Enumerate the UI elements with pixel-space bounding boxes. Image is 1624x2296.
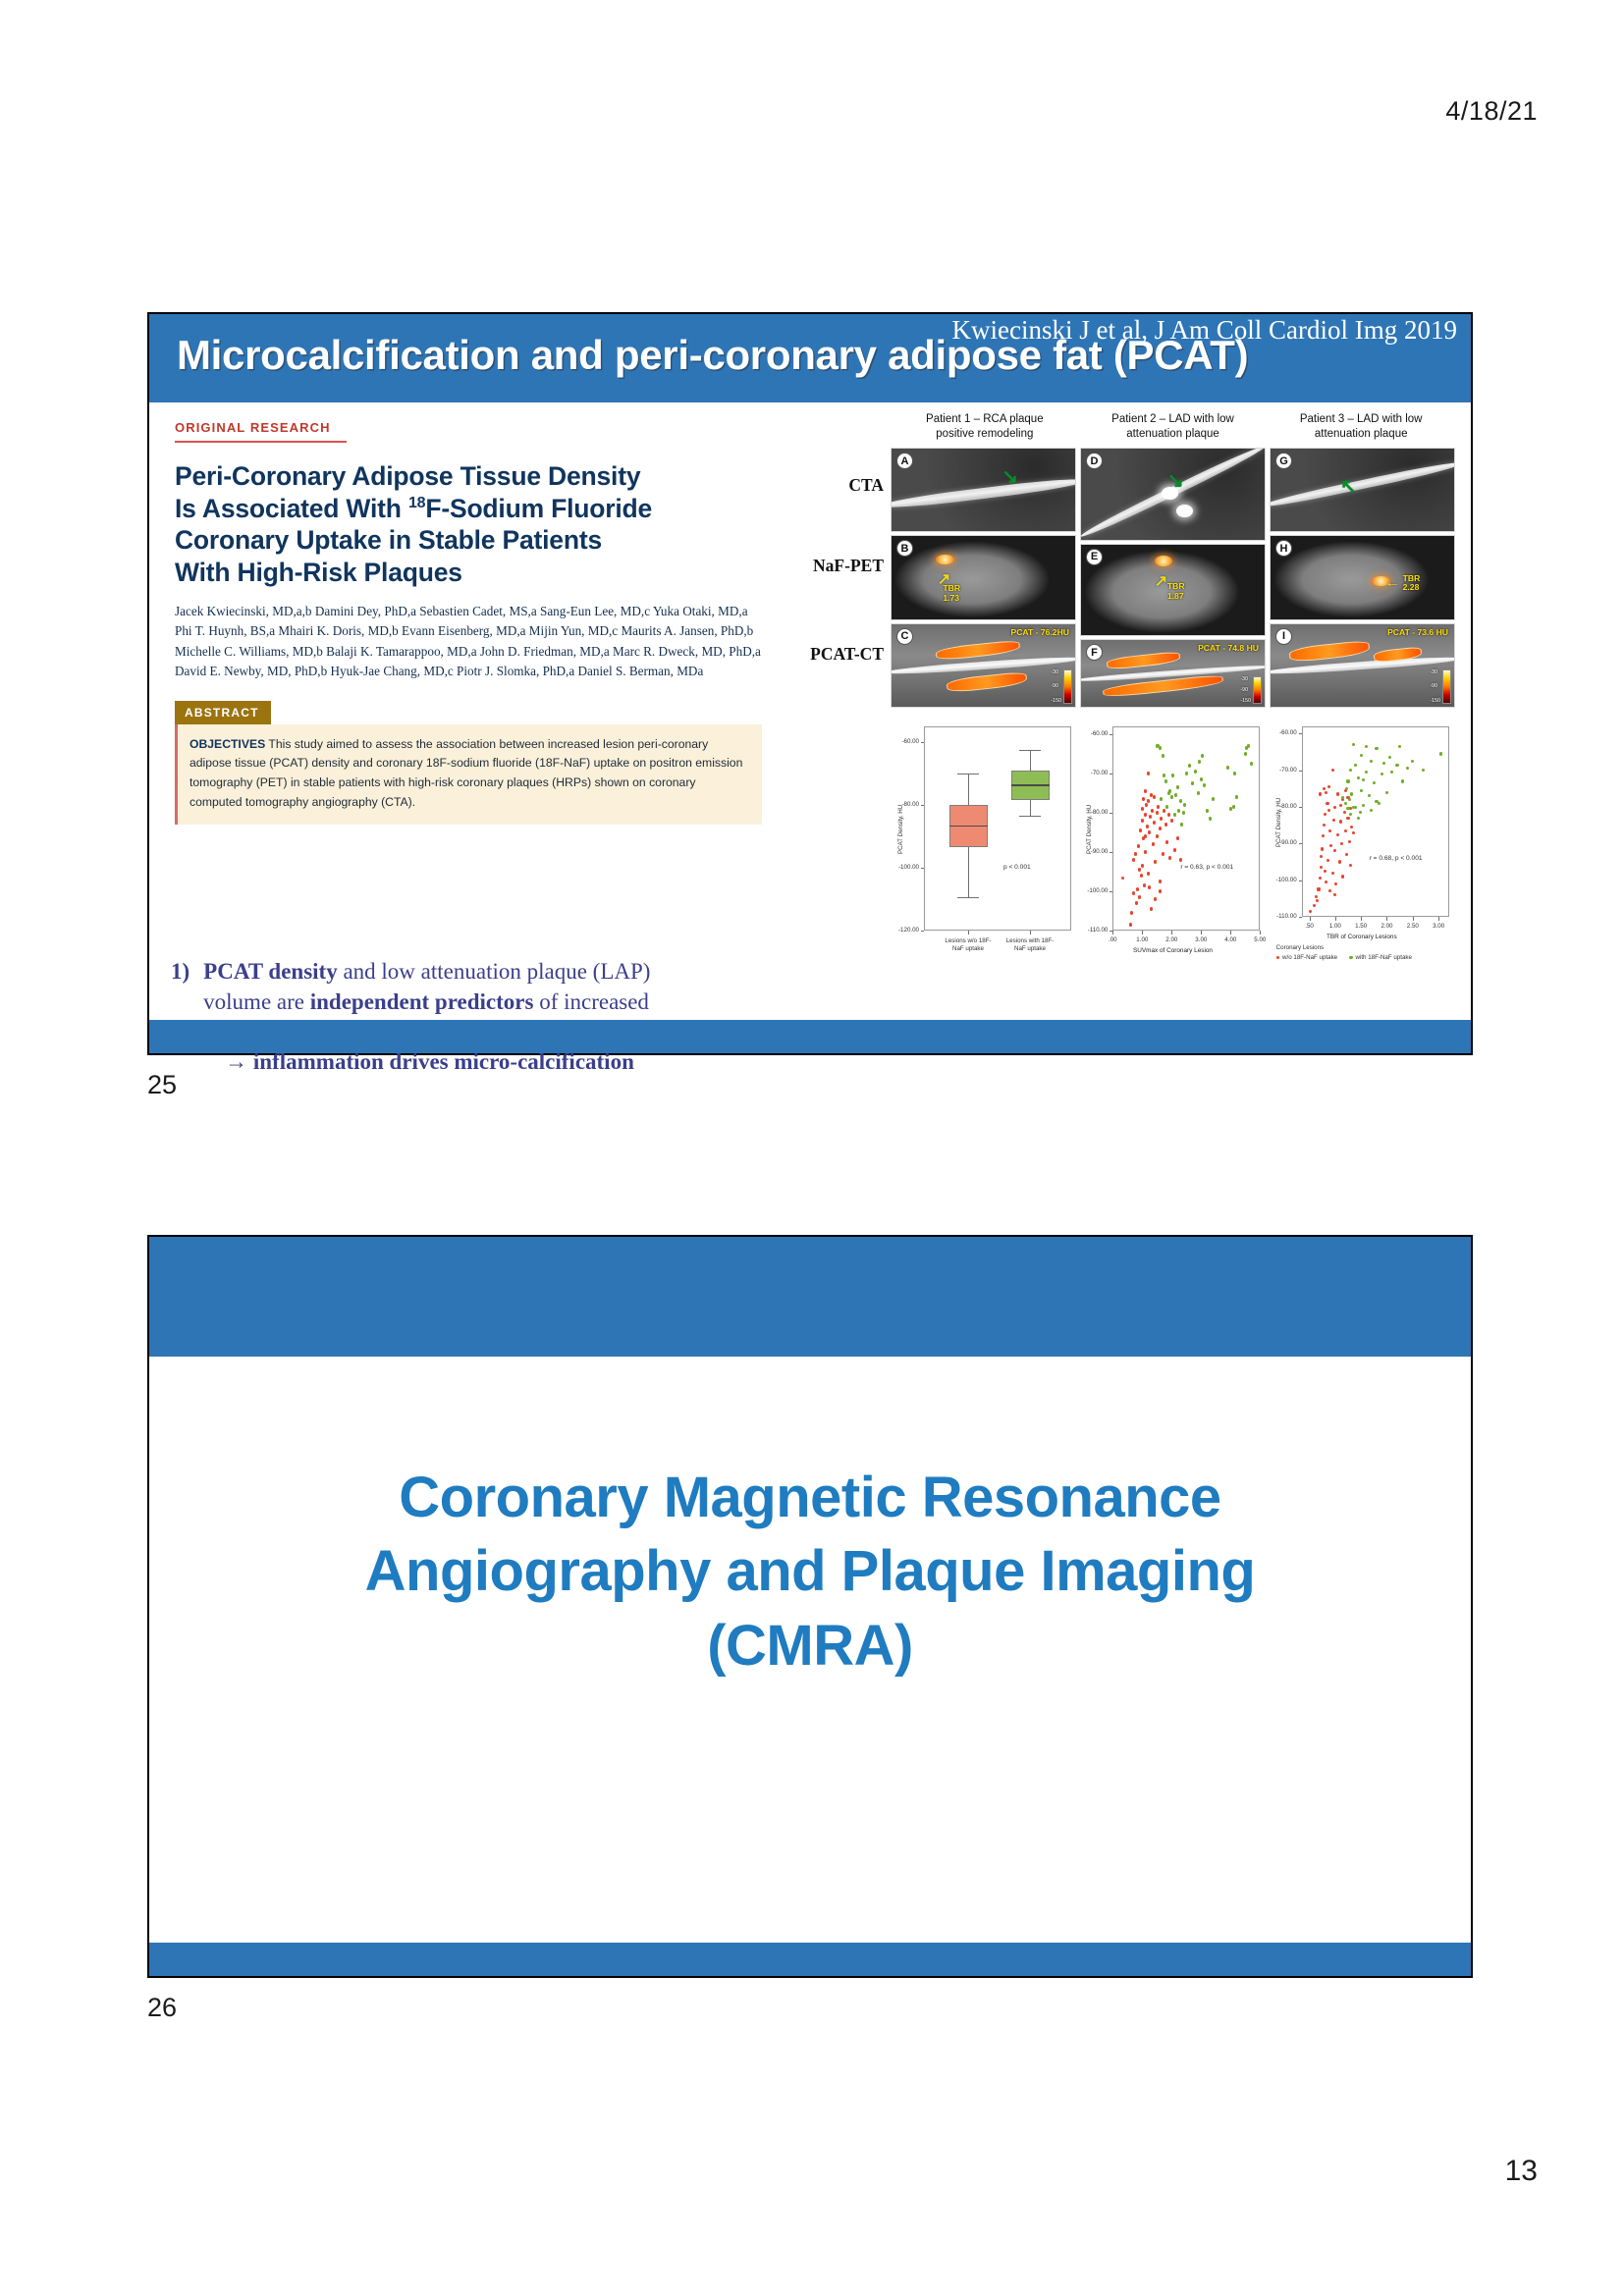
yellow-arrow-icon: ↗ (1155, 571, 1167, 591)
scatter-point (1388, 756, 1391, 759)
chart-annotation: r = 0.63, p < 0.001 (1180, 864, 1233, 871)
panel-letter-A: A (896, 453, 913, 469)
figure-column-header-patient-3: Patient 3 – LAD with lowattenuation plaq… (1267, 412, 1455, 448)
scatter-point (1167, 813, 1170, 816)
scatter-point (1135, 901, 1138, 904)
panel-C-pcat-ct: C PCAT - 76.2HU -30 -90 -150 (891, 623, 1076, 708)
y-tick-mark (1110, 852, 1112, 853)
x-axis-tick: 2.00 (1156, 936, 1187, 943)
slide-2-title-line-3: (CMRA) (257, 1609, 1363, 1682)
x-tick-mark (1171, 931, 1172, 934)
boxplot-median (949, 826, 988, 827)
scatter-point (1232, 805, 1235, 808)
x-tick-mark (968, 931, 969, 934)
figure-column-2: D ↘ E ↗ TBR 1.87 F PCAT - 74.8 HU (1080, 448, 1266, 708)
article-title-line-2: Is Associated With 18F-Sodium Fluoride (175, 493, 780, 525)
panel-H-naf-pet: H ← TBR 2.28 (1270, 535, 1455, 619)
scatter-point (1194, 770, 1197, 773)
authors-line-3: Michelle C. Williams, MD,b Balaji K. Tam… (175, 642, 764, 662)
scatter-point (1129, 923, 1132, 926)
y-axis-tick: -110.00 (1269, 913, 1297, 920)
abstract-box: OBJECTIVES This study aimed to assess th… (175, 724, 762, 825)
x-tick-mark (1230, 931, 1231, 934)
scatter-point (1141, 807, 1144, 810)
figure-image-grid: A ↘ B ↗ TBR 1.73 C PCAT - 76.2HU (891, 448, 1455, 708)
scatter-point (1375, 747, 1378, 750)
article-title-line-3: Coronary Uptake in Stable Patients (175, 524, 780, 557)
scatter-point (1141, 819, 1144, 822)
scatter-point (1324, 870, 1326, 873)
scatter-point (1188, 764, 1191, 767)
scatter-point (1332, 819, 1335, 822)
scatter-point (1153, 795, 1156, 798)
slide-2[interactable]: Coronary Magnetic Resonance Angiography … (147, 1235, 1473, 1978)
scatter-point (1179, 858, 1182, 861)
scatter-point (1344, 802, 1347, 805)
plot-area (1112, 726, 1260, 931)
scatter-point (1147, 872, 1150, 875)
scatter-tbr-vs-pcat: -60.00-70.00-80.00-90.00-100.00-110.00PC… (1269, 719, 1455, 964)
scatter-point (1179, 799, 1182, 802)
slide-2-number: 26 (147, 1993, 177, 2023)
scatter-point (1176, 836, 1179, 839)
authors-line-2: Phi T. Huynh, BS,a Mhairi K. Doris, MD,b… (175, 621, 764, 641)
color-scale-ticks: -30 -90 -150 (1240, 676, 1251, 704)
scatter-point (1365, 745, 1368, 748)
scatter-point (1316, 899, 1319, 902)
scatter-point (1162, 852, 1164, 855)
article-rule (175, 441, 347, 443)
scatter-point (1378, 802, 1380, 805)
authors-line-4: David E. Newby, MD, PhD,b Hyuk-Jae Chang… (175, 662, 764, 681)
scatter-point (1170, 819, 1173, 822)
takeaway-bullet: 1) PCAT density and low attenuation plaq… (171, 957, 780, 1077)
artery-shape (891, 655, 1076, 676)
scatter-point (1235, 795, 1238, 798)
scatter-point (1212, 797, 1215, 800)
slide-1-citation-bar (149, 1020, 1471, 1053)
scatter-point (1350, 792, 1353, 795)
slide-2-title-line-1: Coronary Magnetic Resonance (257, 1461, 1363, 1534)
legend-items: w/o 18F-NaF uptakewith 18F-NaF uptake (1276, 953, 1412, 963)
x-tick-mark (1142, 931, 1143, 934)
scatter-point (1159, 827, 1162, 829)
green-arrow-icon: ↖ (1340, 477, 1357, 497)
scatter-point (1315, 895, 1318, 898)
y-axis-tick: -80.00 (1269, 803, 1297, 810)
slide-2-title-bar (149, 1237, 1471, 1357)
chart-legend: Coronary Lesionsw/o 18F-NaF uptakewith 1… (1276, 943, 1412, 962)
y-axis-tick: -100.00 (1269, 877, 1297, 883)
figure-column-1: A ↘ B ↗ TBR 1.73 C PCAT - 76.2HU (891, 448, 1076, 708)
pcat-value-patient-2: PCAT - 74.8 HU (1198, 643, 1259, 653)
panel-letter-C: C (896, 628, 913, 645)
slide-2-title-line-2: Angiography and Plaque Imaging (257, 1534, 1363, 1608)
pcat-value-patient-1: PCAT - 76.2HU (1010, 627, 1069, 637)
scatter-point (1339, 820, 1342, 823)
scatter-point (1345, 787, 1348, 790)
scatter-point (1329, 844, 1332, 847)
scatter-point (1352, 743, 1355, 746)
scatter-point (1164, 779, 1167, 782)
panel-letter-G: G (1275, 453, 1292, 469)
panel-letter-F: F (1086, 644, 1103, 661)
scatter-point (1321, 847, 1324, 850)
coronary-vessel-shape (1270, 458, 1455, 510)
y-axis-tick: -90.00 (1079, 848, 1108, 855)
y-axis-label: PCAT Density, HU (1086, 805, 1093, 854)
y-axis-tick: -90.00 (1269, 839, 1297, 846)
scatter-point (1325, 791, 1327, 794)
figure-column-headers: Patient 1 – RCA plaquepositive remodelin… (891, 412, 1455, 448)
scatter-point (1328, 829, 1331, 832)
panel-E-naf-pet: E ↗ TBR 1.87 (1080, 544, 1266, 637)
scatter-point (1250, 762, 1253, 765)
scatter-point (1395, 764, 1398, 767)
scatter-point (1357, 776, 1360, 779)
scatter-point (1326, 802, 1328, 805)
y-axis-tick: -60.00 (1269, 729, 1297, 736)
scatter-point (1331, 872, 1334, 875)
y-tick-mark (1299, 807, 1302, 808)
y-tick-mark (921, 742, 924, 743)
scatter-point (1340, 842, 1343, 845)
x-axis-tick: .00 (1097, 936, 1128, 943)
scatter-point (1341, 875, 1344, 878)
slide-2-title: Coronary Magnetic Resonance Angiography … (149, 1461, 1471, 1682)
boxplot-cap (1019, 816, 1041, 817)
article-title: Peri-Coronary Adipose Tissue Density Is … (175, 460, 780, 588)
page-number: 13 (1505, 2155, 1538, 2188)
figure-column-header-patient-2: Patient 2 – LAD with lowattenuation plaq… (1079, 412, 1268, 448)
y-tick-mark (921, 805, 924, 806)
y-tick-mark (1110, 891, 1112, 892)
legend-item: w/o 18F-NaF uptake (1276, 953, 1337, 963)
x-tick-mark (1361, 917, 1362, 921)
original-research-label: ORIGINAL RESEARCH (175, 420, 780, 435)
panel-B-naf-pet: B ↗ TBR 1.73 (891, 535, 1076, 619)
color-scale-ticks: -30 -90 -150 (1051, 669, 1061, 704)
scatter-point (1173, 848, 1176, 851)
scatter-point (1352, 806, 1355, 809)
y-tick-mark (1299, 881, 1302, 881)
coronary-vessel-shape (891, 476, 1076, 511)
green-arrow-icon: ↘ (1167, 471, 1184, 491)
scatter-point (1226, 766, 1229, 769)
abstract-text: OBJECTIVES This study aimed to assess th… (189, 735, 748, 813)
yellow-arrow-icon: ← (1384, 574, 1400, 592)
scatter-point (1156, 811, 1159, 814)
x-axis-tick: 1.00 (1126, 936, 1158, 943)
scatter-point (1346, 779, 1349, 782)
y-axis-tick: -70.00 (1079, 770, 1108, 776)
authors-line-1: Jacek Kwiecinski, MD,a,b Damini Dey, PhD… (175, 602, 764, 621)
y-tick-mark (1299, 917, 1302, 918)
boxplot-cap (1019, 750, 1041, 751)
panel-I-pcat-ct: I PCAT - 73.6 HU -30 -90 -150 (1270, 623, 1455, 708)
figure-panel: Patient 1 – RCA plaquepositive remodelin… (797, 412, 1455, 1021)
y-axis-tick: -100.00 (891, 864, 919, 871)
y-axis-tick: -60.00 (891, 738, 919, 745)
pcat-fat-region (1107, 651, 1181, 669)
panel-F-pcat-ct: F PCAT - 74.8 HU -30 -90 -150 (1080, 639, 1266, 708)
y-tick-mark (1299, 843, 1302, 844)
y-axis-tick: -80.00 (1079, 809, 1108, 816)
boxplot-whisker (1030, 800, 1031, 816)
pet-hotspot (936, 555, 954, 564)
scatter-point (1203, 783, 1206, 786)
pcat-fat-region (1288, 640, 1370, 664)
y-axis-tick: -70.00 (1269, 767, 1297, 774)
scatter-point (1152, 842, 1155, 845)
boxplot-median (1011, 784, 1050, 785)
x-axis-label: SUVmax of Coronary Lesion (1079, 947, 1266, 954)
scatter-point (1144, 813, 1147, 816)
panel-letter-D: D (1086, 453, 1103, 469)
boxplot-whisker (968, 774, 969, 805)
x-tick-mark (1201, 931, 1202, 934)
figure-column-header-patient-1: Patient 1 – RCA plaquepositive remodelin… (891, 412, 1079, 448)
y-tick-mark (1110, 813, 1112, 814)
panel-A-cta: A ↘ (891, 448, 1076, 532)
scatter-point (1319, 792, 1322, 795)
panel-letter-E: E (1086, 549, 1103, 565)
y-tick-mark (1299, 771, 1302, 772)
tbr-value-patient-3: TBR 2.28 (1403, 574, 1421, 593)
color-scale-bar (1063, 669, 1072, 704)
scatter-point (1401, 779, 1404, 782)
scatter-point (1147, 772, 1150, 774)
x-tick-mark (1260, 931, 1261, 934)
slide-1[interactable]: Microcalcification and peri-coronary adi… (147, 312, 1473, 1055)
figure-row-label-cta: CTA (793, 475, 884, 496)
color-scale-ticks: -30 -90 -150 (1430, 669, 1440, 704)
x-tick-mark (1310, 917, 1311, 921)
legend-color-swatch (1349, 956, 1352, 959)
article-title-line-4: With High-Risk Plaques (175, 557, 780, 589)
slide-1-citation: Kwiecinski J et al, J Am Coll Cardiol Im… (952, 315, 1457, 346)
plot-area (1302, 726, 1449, 917)
page-date: 4/18/21 (1445, 96, 1538, 127)
scatter-point (1197, 791, 1200, 794)
article-authors: Jacek Kwiecinski, MD,a,b Damini Dey, PhD… (175, 602, 764, 680)
slide-2-bottom-bar (149, 1943, 1471, 1976)
calcification-spot (1176, 505, 1193, 517)
figure-charts-row: -60.00-80.00-100.00-120.00PCAT Density, … (891, 719, 1455, 964)
y-axis-tick: -120.00 (891, 927, 919, 934)
scatter-point (1132, 891, 1135, 894)
y-axis-tick: -80.00 (891, 801, 919, 808)
takeaway-body: PCAT density and low attenuation plaque … (203, 957, 780, 1077)
scatter-point (1344, 829, 1347, 832)
scatter-point (1185, 772, 1188, 774)
panel-letter-I: I (1275, 628, 1292, 645)
scatter-point (1206, 809, 1209, 812)
scatter-point (1182, 811, 1185, 814)
y-tick-mark (921, 868, 924, 869)
scatter-suvmax-vs-pcat: -60.00-70.00-80.00-90.00-100.00-110.00PC… (1079, 719, 1266, 964)
figure-row-labels: CTA NaF-PET PCAT-CT (797, 448, 888, 708)
figure-row-label-naf-pet: NaF-PET (793, 556, 884, 576)
panel-letter-B: B (896, 540, 913, 557)
panel-D-cta: D ↘ (1080, 448, 1266, 541)
pet-hotspot (1155, 556, 1173, 566)
figure-row-label-pcat-ct: PCAT-CT (793, 644, 884, 665)
x-tick-mark (1335, 917, 1336, 921)
scatter-point (1336, 792, 1339, 795)
chart-annotation: p < 0.001 (1003, 864, 1031, 871)
x-axis-tick: 3.00 (1423, 923, 1454, 930)
slide-1-number: 25 (147, 1070, 177, 1100)
scatter-point (1134, 852, 1137, 855)
scatter-point (1324, 813, 1326, 816)
y-axis-tick: -100.00 (1079, 887, 1108, 894)
article-title-line-1: Peri-Coronary Adipose Tissue Density (175, 460, 780, 493)
chart-annotation: r = 0.68, p < 0.001 (1370, 855, 1423, 862)
scatter-point (1339, 804, 1342, 807)
scatter-point (1149, 815, 1152, 818)
x-axis-tick: 3.00 (1185, 936, 1217, 943)
boxplot-cap (957, 897, 979, 898)
takeaway-line-1: PCAT density and low attenuation plaque … (203, 957, 780, 988)
y-tick-mark (1110, 734, 1112, 735)
figure-column-3: G ↖ H ← TBR 2.28 I PCAT - 73.6 HU (1270, 448, 1455, 708)
scatter-point (1143, 883, 1146, 886)
color-scale-bar (1442, 669, 1451, 704)
x-tick-mark (1112, 931, 1113, 934)
legend-label: with 18F-NaF uptake (1356, 953, 1412, 963)
scatter-point (1247, 744, 1250, 747)
y-axis-tick: -60.00 (1079, 730, 1108, 737)
plot-area (924, 726, 1071, 931)
y-axis-label: PCAT Density, HU (1275, 798, 1282, 847)
y-axis-tick: -110.00 (1079, 927, 1108, 934)
scatter-point (1357, 817, 1360, 820)
pcat-value-patient-3: PCAT - 73.6 HU (1387, 627, 1448, 637)
scatter-point (1338, 860, 1341, 863)
scatter-point (1164, 823, 1167, 826)
scatter-point (1323, 787, 1326, 790)
tbr-value-patient-2: TBR 1.87 (1167, 582, 1185, 601)
scatter-point (1138, 868, 1141, 871)
scatter-point (1336, 833, 1339, 836)
scatter-point (1170, 795, 1173, 798)
takeaway-number: 1) (171, 957, 189, 1077)
scatter-point (1173, 813, 1176, 816)
green-arrow-icon: ↘ (1001, 467, 1018, 487)
takeaway-line-2: volume are independent predictors of inc… (203, 988, 780, 1018)
panel-letter-H: H (1275, 540, 1292, 557)
abstract-tag: ABSTRACT (175, 701, 271, 724)
abstract-body: This study aimed to assess the associati… (189, 737, 742, 809)
scatter-point (1144, 789, 1147, 792)
scatter-point (1360, 789, 1363, 792)
boxplot-pcat-density: -60.00-80.00-100.00-120.00PCAT Density, … (891, 719, 1077, 964)
scatter-point (1439, 752, 1442, 755)
boxplot-cap (957, 774, 979, 774)
boxplot-whisker (968, 847, 969, 897)
legend-item: with 18F-NaF uptake (1349, 953, 1412, 963)
scatter-point (1200, 777, 1203, 780)
y-tick-mark (1299, 733, 1302, 734)
scatter-point (1150, 907, 1153, 910)
x-tick-mark (1386, 917, 1387, 921)
scatter-point (1156, 834, 1159, 837)
scatter-point (1346, 817, 1349, 820)
boxplot-whisker (1030, 750, 1031, 771)
x-axis-tick: 4.00 (1215, 936, 1246, 943)
y-tick-mark (921, 931, 924, 932)
x-tick-mark (1030, 931, 1031, 934)
legend-label: w/o 18F-NaF uptake (1282, 953, 1337, 963)
y-tick-mark (1110, 774, 1112, 774)
scatter-point (1159, 746, 1162, 749)
x-axis-label: TBR of Coronary Lesions (1269, 934, 1455, 940)
x-tick-mark (1413, 917, 1414, 921)
scatter-point (1352, 831, 1355, 834)
pcat-fat-region (935, 639, 1020, 661)
panel-G-cta: G ↖ (1270, 448, 1455, 532)
scatter-point (1317, 887, 1320, 890)
legend-title: Coronary Lesions (1276, 943, 1412, 953)
scatter-point (1244, 752, 1247, 755)
color-scale-bar (1253, 676, 1262, 704)
scatter-point (1385, 791, 1388, 794)
x-axis-category-label: Lesions with 18F-NaF uptake (994, 937, 1066, 954)
y-axis-label: PCAT Density, HU (897, 805, 904, 854)
scatter-point (1146, 825, 1149, 828)
tbr-value-patient-1: TBR 1.73 (943, 584, 960, 603)
legend-color-swatch (1276, 956, 1279, 959)
x-tick-mark (1438, 917, 1439, 921)
scatter-point (1326, 859, 1329, 862)
scatter-point (1137, 844, 1140, 847)
scatter-point (1209, 817, 1212, 820)
pcat-fat-region (947, 671, 1028, 694)
scatter-point (1140, 874, 1143, 877)
scatter-point (1162, 754, 1164, 757)
scatter-point (1159, 889, 1162, 892)
scatter-point (1359, 811, 1362, 814)
journal-article-clipping: ORIGINAL RESEARCH Peri-Coronary Adipose … (171, 416, 780, 917)
scatter-point (1380, 773, 1383, 775)
scatter-point (1176, 785, 1179, 788)
scatter-point (1191, 781, 1194, 784)
abstract-heading: OBJECTIVES (189, 737, 265, 751)
scatter-point (1320, 866, 1323, 869)
